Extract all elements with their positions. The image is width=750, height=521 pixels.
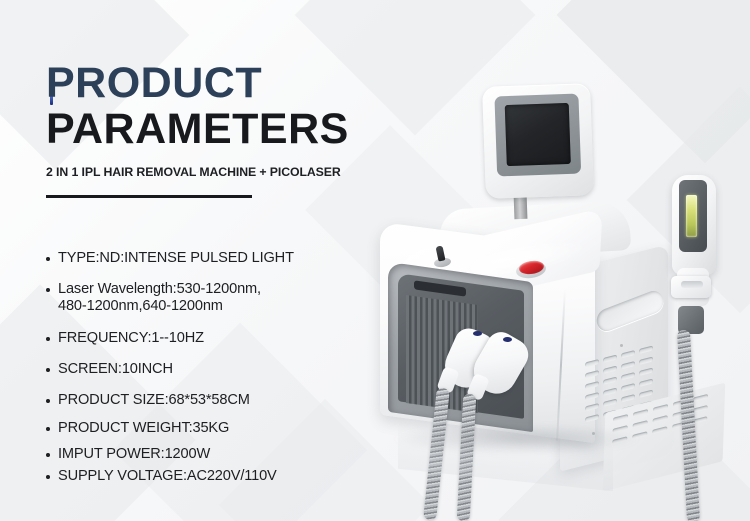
rear-vent-slot <box>613 414 628 422</box>
page-subtitle: 2 IN 1 IPL HAIR REMOVAL MACHINE + PICOLA… <box>46 165 396 179</box>
list-item: SUPPLY VOLTAGE:AC220V/110V <box>46 468 406 485</box>
monitor-screen[interactable] <box>505 103 571 166</box>
page-title-line2: PARAMETERS <box>46 108 396 152</box>
vent-slot <box>621 394 635 402</box>
rear-vent-slot <box>653 404 668 412</box>
crystal-filter-window <box>686 195 697 237</box>
rear-vent-slot <box>693 394 708 402</box>
vent-slot <box>585 392 599 400</box>
rear-vent-slot <box>652 426 667 434</box>
rear-vent-slot <box>693 405 708 413</box>
list-item: FREQUENCY:1--10HZ <box>46 330 406 347</box>
list-item: PRODUCT WEIGHT:35KG <box>46 420 406 437</box>
vent-slot <box>639 368 653 376</box>
floor-shadow <box>392 424 642 454</box>
vent-slot <box>603 365 617 373</box>
page-title-line1: PRODUCT <box>46 62 396 106</box>
list-item: Laser Wavelength:530-1200nm, 480-1200nm,… <box>46 281 406 315</box>
handpiece-indicator-dot <box>503 337 512 342</box>
vent-slot <box>603 387 617 395</box>
monitor-inner-frame <box>494 94 581 177</box>
panel-screw <box>620 344 623 347</box>
monitor-bezel <box>482 83 594 199</box>
holder-bracket-notch <box>681 281 703 288</box>
vent-slot <box>585 414 599 422</box>
list-item: SCREEN:10INCH <box>46 361 406 378</box>
vent-slot <box>621 383 635 391</box>
handpiece-indicator-dot <box>473 331 482 336</box>
vent-slot <box>585 381 599 389</box>
headline-block: PRODUCT PARAMETERS 2 IN 1 IPL HAIR REMOV… <box>46 62 396 198</box>
specification-list: TYPE:ND:INTENSE PULSED LIGHT Laser Wavel… <box>46 250 406 485</box>
product-parameters-banner: PRODUCT PARAMETERS 2 IN 1 IPL HAIR REMOV… <box>0 0 750 521</box>
vent-slot <box>603 376 617 384</box>
title-divider <box>46 195 252 198</box>
vent-slot <box>621 372 635 380</box>
rear-vent-slot <box>633 409 648 417</box>
vent-slot <box>639 379 653 387</box>
vent-slot <box>603 398 617 406</box>
rear-vent-slot <box>653 415 668 423</box>
vent-slot <box>621 361 635 369</box>
vent-slot <box>639 357 653 365</box>
rear-vent-slot <box>633 420 648 428</box>
vent-slot <box>639 390 653 398</box>
vent-slot <box>585 403 599 411</box>
list-item: TYPE:ND:INTENSE PULSED LIGHT <box>46 250 406 267</box>
list-item: PRODUCT SIZE:68*53*58CM <box>46 392 406 409</box>
vent-slot <box>585 370 599 378</box>
list-item: IMPUT POWER:1200W <box>46 446 406 463</box>
